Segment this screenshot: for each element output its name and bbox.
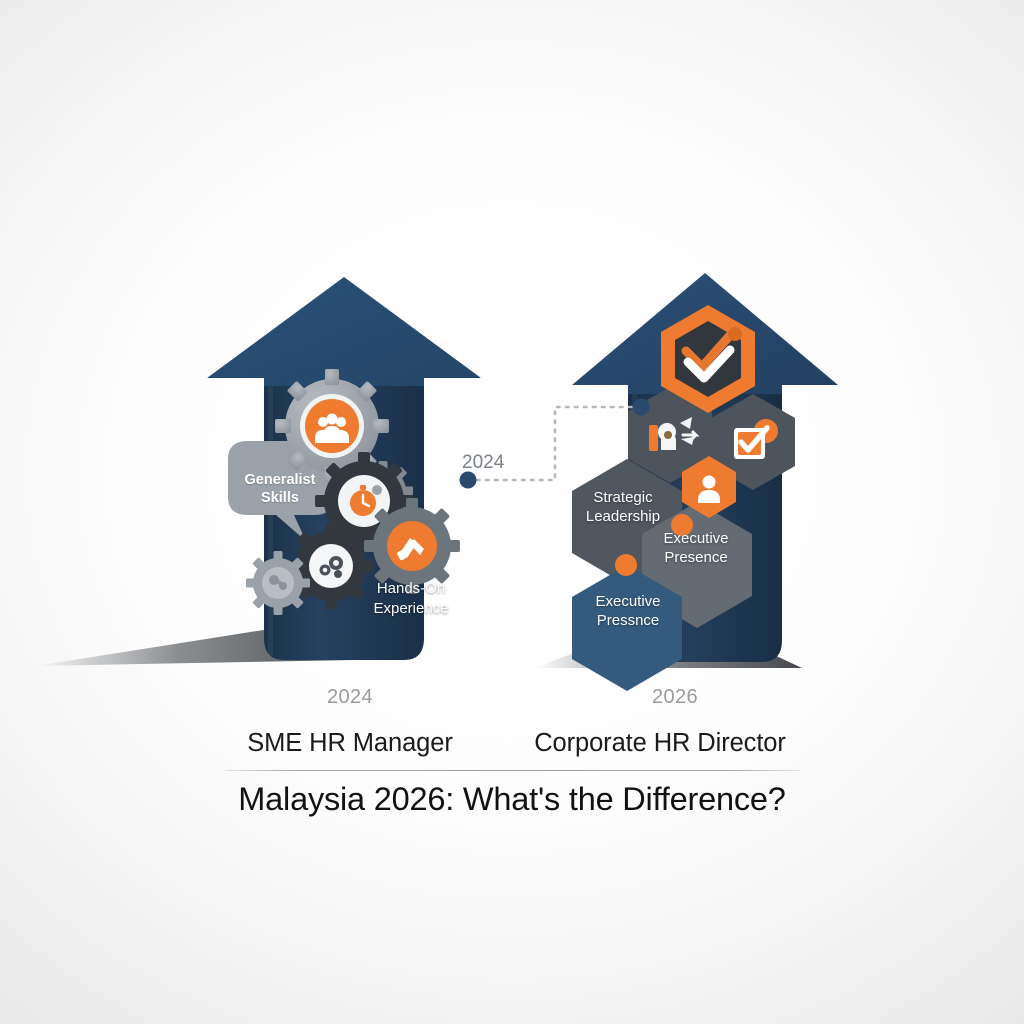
- executive-presence-label: Executive Presence: [646, 529, 746, 567]
- gear-tools-icon: [246, 551, 310, 615]
- exec1-line-1: Executive: [646, 529, 746, 548]
- hands-on-line-1: Hands-On: [357, 579, 465, 599]
- left-arrow-graphic: [0, 0, 512, 1024]
- connector-dot-right: [633, 399, 650, 416]
- executive-pressnce-label: Executive Pressnce: [578, 592, 678, 630]
- right-year-label: 2026: [550, 686, 800, 709]
- exec2-line-2: Pressnce: [578, 611, 678, 630]
- strategic-line-2: Leadership: [573, 507, 673, 526]
- bubble-line-1: Generalist: [232, 471, 328, 489]
- exec2-line-1: Executive: [578, 592, 678, 611]
- infographic-canvas: Generalist Skills Hands-On Experience St…: [0, 0, 1024, 1024]
- hands-on-line-2: Experience: [357, 599, 465, 619]
- page-title: Malaysia 2026: What's the Difference?: [162, 781, 862, 818]
- hex-connector-dot-lower: [615, 554, 637, 576]
- left-year-label: 2024: [225, 686, 475, 709]
- strategic-leadership-label: Strategic Leadership: [573, 488, 673, 526]
- generalist-skills-label: Generalist Skills: [232, 471, 328, 507]
- strategic-line-1: Strategic: [573, 488, 673, 507]
- left-arrow-highlight: [268, 386, 273, 656]
- bubble-line-2: Skills: [232, 489, 328, 507]
- left-arrow-column: [0, 0, 512, 1024]
- left-role-label: SME HR Manager: [200, 729, 500, 758]
- title-divider: [225, 770, 800, 771]
- right-role-label: Corporate HR Director: [510, 729, 810, 758]
- connector-dot-left: [460, 472, 477, 489]
- hands-on-experience-label: Hands-On Experience: [357, 579, 465, 618]
- exec1-line-2: Presence: [646, 548, 746, 567]
- timeline-year-label: 2024: [462, 452, 504, 474]
